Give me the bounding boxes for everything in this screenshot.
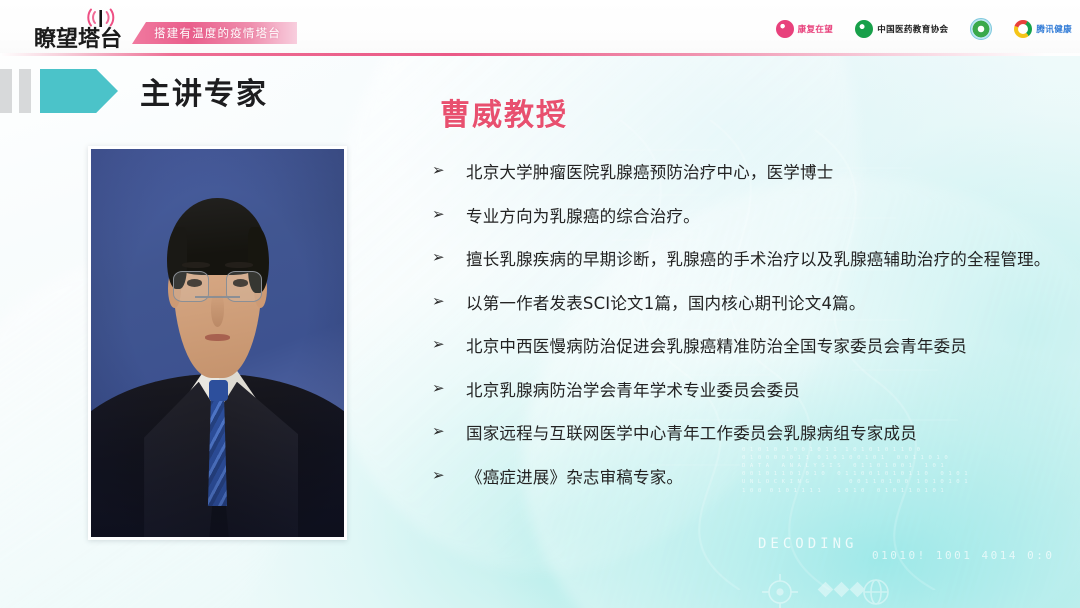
list-item: ➢ 北京大学肿瘤医院乳腺癌预防治疗中心，医学博士	[432, 160, 1058, 186]
brand-name: 瞭望塔台	[34, 21, 122, 53]
bullet-arrow-icon: ➢	[432, 421, 466, 439]
bullet-arrow-icon: ➢	[432, 378, 466, 396]
background-binary-label: 01010! 1001 4014 0:0	[872, 548, 1054, 564]
partner-logo-cmea-label: 中国医药教育协会	[877, 23, 948, 35]
title-arrow-icon	[40, 69, 118, 113]
partner-logo-strip: 康复在望 中国医药教育协会 腾讯健康	[776, 16, 1072, 42]
partner-logo-tencent-health-label: 腾讯健康	[1036, 23, 1072, 35]
brand-logo[interactable]: 瞭望塔台	[34, 12, 144, 46]
partner-logo-tencent-health[interactable]: 腾讯健康	[1014, 17, 1072, 41]
partner-logo-emblem[interactable]	[970, 17, 992, 41]
speaker-bio-list: ➢ 北京大学肿瘤医院乳腺癌预防治疗中心，医学博士 ➢ 专业方向为乳腺癌的综合治疗…	[432, 160, 1058, 509]
partner-logo-kangfu-label: 康复在望	[798, 23, 834, 35]
list-item-text: 以第一作者发表SCI论文1篇，国内核心期刊论文4篇。	[466, 291, 1058, 317]
list-item-text: 擅长乳腺疾病的早期诊断，乳腺癌的手术治疗以及乳腺癌辅助治疗的全程管理。	[466, 247, 1058, 273]
list-item: ➢ 擅长乳腺疾病的早期诊断，乳腺癌的手术治疗以及乳腺癌辅助治疗的全程管理。	[432, 247, 1058, 273]
tencent-health-icon	[1014, 20, 1032, 38]
list-item: ➢ 国家远程与互联网医学中心青年工作委员会乳腺病组专家成员	[432, 421, 1058, 447]
background-decoding-label: DECODING	[758, 534, 857, 554]
list-item-text: 北京中西医慢病防治促进会乳腺癌精准防治全国专家委员会青年委员	[466, 334, 1058, 360]
partner-logo-kangfu[interactable]: 康复在望	[776, 17, 834, 41]
tagline-banner: 搭建有温度的疫情塔台	[132, 22, 297, 44]
circle-emblem-teal-icon	[970, 18, 992, 40]
bullet-arrow-icon: ➢	[432, 160, 466, 178]
circle-logo-green-icon	[855, 20, 873, 38]
list-item: ➢ 北京乳腺病防治学会青年学术专业委员会委员	[432, 378, 1058, 404]
title-bar-decoration-2	[19, 69, 31, 113]
slide-root: 0 1 0 1 0 1 0 0 1 0 1 1 1 0 1 0 1 0 1 1 …	[0, 0, 1080, 608]
top-bar: 瞭望塔台 搭建有温度的疫情塔台 康复在望 中国医药教育协会 腾讯健康	[0, 0, 1080, 56]
title-bar-decoration-1	[0, 69, 12, 113]
bullet-arrow-icon: ➢	[432, 334, 466, 352]
list-item: ➢ 以第一作者发表SCI论文1篇，国内核心期刊论文4篇。	[432, 291, 1058, 317]
speaker-name: 曹威教授	[440, 90, 568, 134]
tagline-text: 搭建有温度的疫情塔台	[154, 25, 281, 41]
list-item-text: 专业方向为乳腺癌的综合治疗。	[466, 204, 1058, 230]
top-bar-underline	[0, 53, 1080, 56]
bullet-arrow-icon: ➢	[432, 247, 466, 265]
section-title-group: 主讲专家	[0, 68, 268, 114]
list-item-text: 《癌症进展》杂志审稿专家。	[466, 465, 1058, 491]
portrait-vignette	[91, 149, 344, 537]
bullet-arrow-icon: ➢	[432, 291, 466, 309]
bullet-arrow-icon: ➢	[432, 465, 466, 483]
partner-logo-cmea[interactable]: 中国医药教育协会	[855, 17, 948, 41]
list-item: ➢ 专业方向为乳腺癌的综合治疗。	[432, 204, 1058, 230]
speaker-photo-frame	[88, 146, 347, 540]
list-item-text: 北京乳腺病防治学会青年学术专业委员会委员	[466, 378, 1058, 404]
list-item-text: 国家远程与互联网医学中心青年工作委员会乳腺病组专家成员	[466, 421, 1058, 447]
list-item-text: 北京大学肿瘤医院乳腺癌预防治疗中心，医学博士	[466, 160, 1058, 186]
list-item: ➢ 《癌症进展》杂志审稿专家。	[432, 465, 1058, 491]
page-title: 主讲专家	[140, 69, 268, 113]
bullet-arrow-icon: ➢	[432, 204, 466, 222]
background-tech-icons	[748, 572, 998, 608]
speaker-photo	[91, 149, 344, 537]
list-item: ➢ 北京中西医慢病防治促进会乳腺癌精准防治全国专家委员会青年委员	[432, 334, 1058, 360]
circle-logo-pink-icon	[776, 20, 794, 38]
